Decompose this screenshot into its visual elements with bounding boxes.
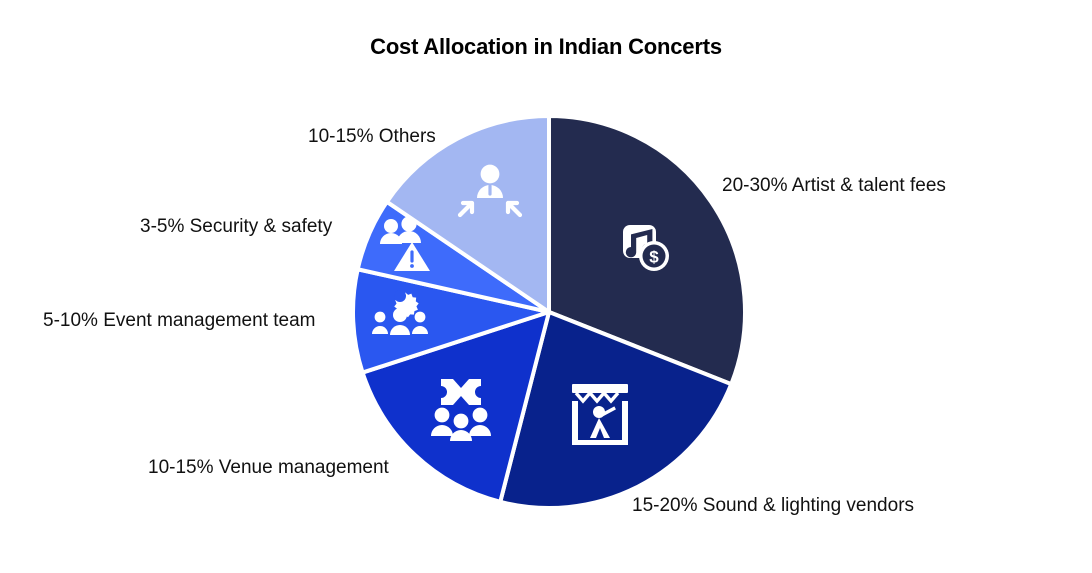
slice-label-others: 10-15% Others	[308, 126, 436, 148]
slice-label-sound-lighting-vendors: 15-20% Sound & lighting vendors	[632, 495, 914, 517]
slice-label-event-management-team: 5-10% Event management team	[43, 310, 316, 332]
pie-chart-figure: Cost Allocation in Indian Concerts $ 20-…	[0, 0, 1092, 573]
slice-label-venue-management: 10-15% Venue management	[148, 457, 389, 479]
svg-text:$: $	[649, 248, 659, 267]
slice-label-security-safety: 3-5% Security & safety	[140, 216, 332, 238]
slice-label-artist-talent-fees: 20-30% Artist & talent fees	[722, 175, 946, 197]
pie-svg: $	[0, 0, 1092, 573]
pie-plot-area: $	[0, 0, 1092, 573]
